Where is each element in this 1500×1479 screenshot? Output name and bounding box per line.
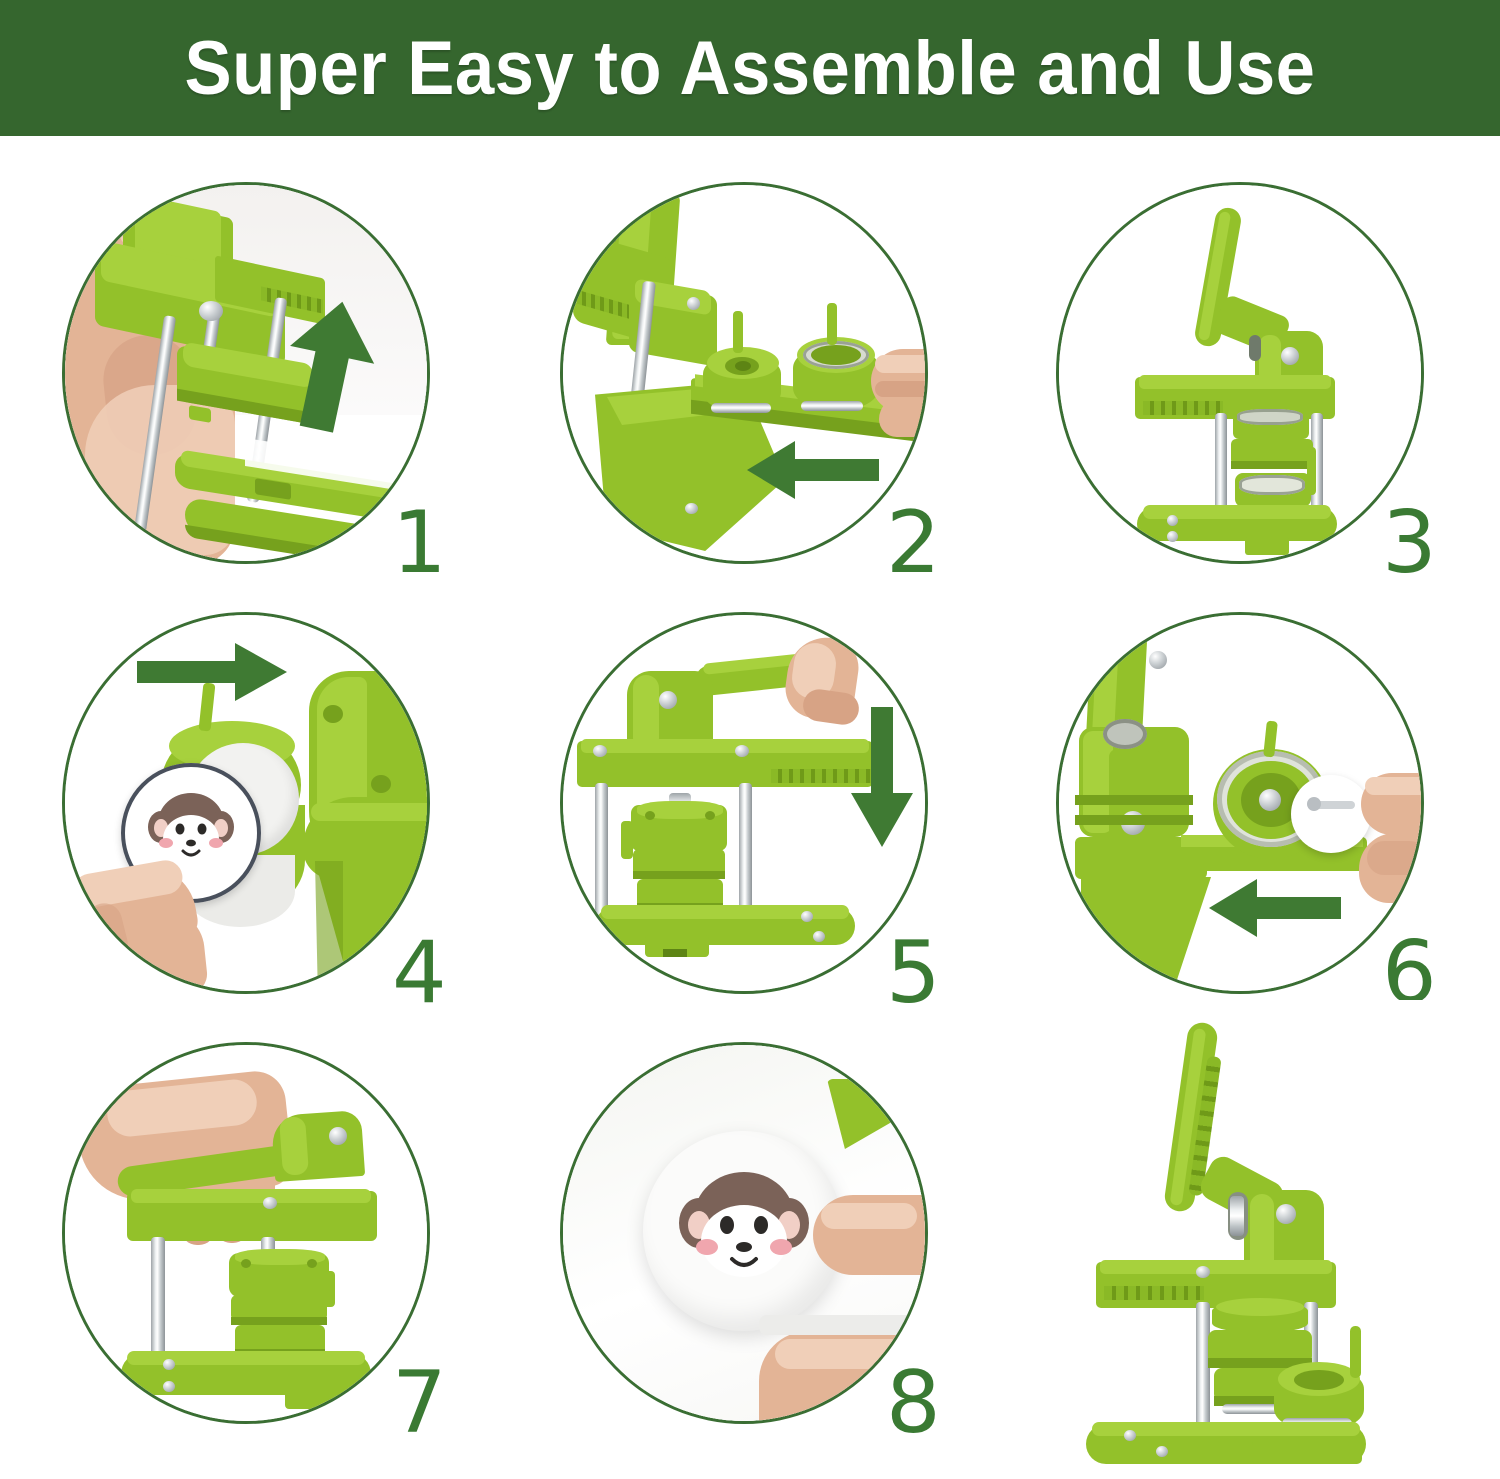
button-maker-machine xyxy=(1020,1000,1490,1470)
step-7: 7 xyxy=(62,1042,482,1442)
step-6-photo xyxy=(1059,615,1421,991)
step-8-circle xyxy=(560,1042,928,1424)
step-1: 1 xyxy=(62,182,482,582)
step-1-photo xyxy=(65,185,427,561)
step-8: 8 xyxy=(560,1042,980,1442)
arrow-left-icon xyxy=(743,437,883,503)
page-title: Super Easy to Assemble and Use xyxy=(185,25,1316,112)
step-4-number: 4 xyxy=(392,930,447,1016)
header-banner: Super Easy to Assemble and Use xyxy=(0,0,1500,136)
arrow-up-icon xyxy=(277,295,387,435)
step-5-photo xyxy=(563,615,925,991)
step-1-number: 1 xyxy=(392,500,447,586)
monkey-face-icon xyxy=(667,1157,821,1307)
step-3-photo xyxy=(1059,185,1421,561)
step-2-number: 2 xyxy=(886,500,941,586)
step-4-circle xyxy=(62,612,430,994)
step-7-number: 7 xyxy=(392,1360,447,1446)
arrow-right-icon xyxy=(131,641,291,703)
step-2: 2 xyxy=(560,182,980,582)
step-8-number: 8 xyxy=(886,1360,941,1446)
arrow-left-icon xyxy=(1205,877,1345,939)
step-5-number: 5 xyxy=(886,930,941,1016)
arrow-down-icon xyxy=(845,701,919,851)
step-6: 6 xyxy=(1056,612,1476,1012)
step-4: 4 xyxy=(62,612,482,1012)
step-5-circle xyxy=(560,612,928,994)
step-2-circle xyxy=(560,182,928,564)
step-3-circle xyxy=(1056,182,1424,564)
step-1-circle xyxy=(62,182,430,564)
finished-badge xyxy=(1291,775,1371,853)
step-3: 3 xyxy=(1056,182,1476,582)
step-8-photo xyxy=(563,1045,925,1421)
step-4-photo xyxy=(65,615,427,991)
step-2-photo xyxy=(563,185,925,561)
step-6-circle xyxy=(1056,612,1424,994)
step-5: 5 xyxy=(560,612,980,1012)
step-3-number: 3 xyxy=(1382,500,1437,586)
step-7-photo xyxy=(65,1045,427,1421)
page-root: Super Easy to Assemble and Use xyxy=(0,0,1500,1479)
step-7-circle xyxy=(62,1042,430,1424)
